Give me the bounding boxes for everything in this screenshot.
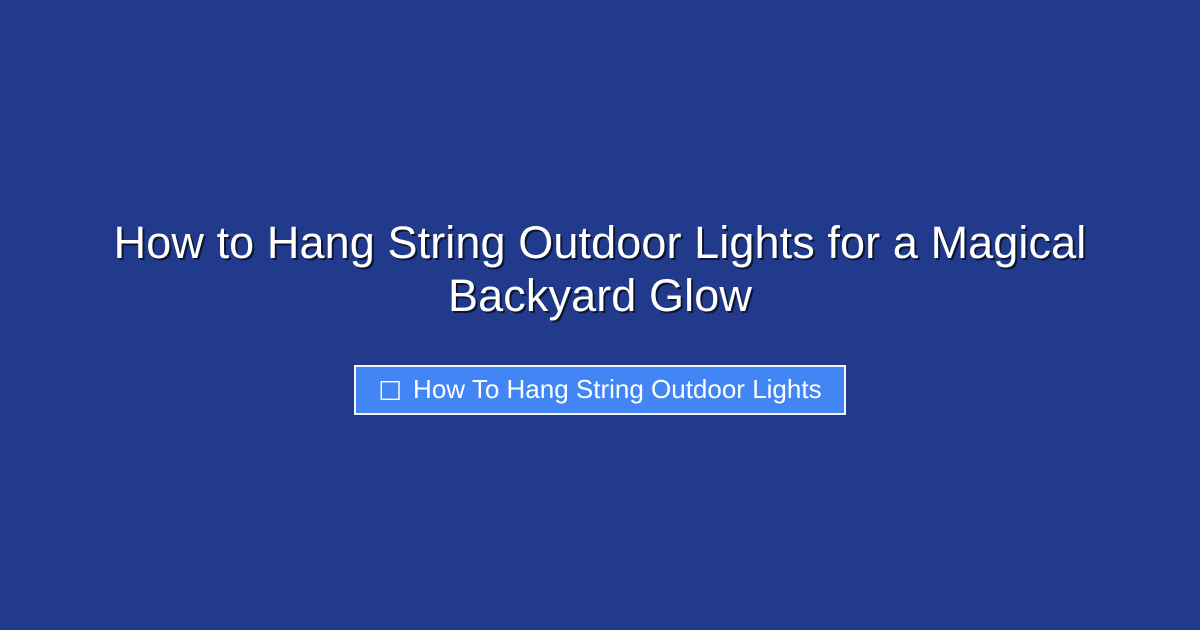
card-content-area: How to Hang String Outdoor Lights for a … [0, 0, 1200, 630]
missing-glyph-tofu-icon: □ [378, 376, 402, 401]
social-share-card: How to Hang String Outdoor Lights for a … [0, 0, 1200, 630]
cta-button-label: How To Hang String Outdoor Lights [413, 374, 822, 404]
page-title: How to Hang String Outdoor Lights for a … [72, 216, 1128, 322]
page-title-line-2: Backyard Glow [448, 270, 752, 321]
page-title-line-1: How to Hang String Outdoor Lights for a … [114, 217, 1087, 268]
how-to-hang-string-outdoor-lights-button[interactable]: □ How To Hang String Outdoor Lights [354, 365, 845, 415]
cta-container: □ How To Hang String Outdoor Lights [354, 365, 845, 415]
